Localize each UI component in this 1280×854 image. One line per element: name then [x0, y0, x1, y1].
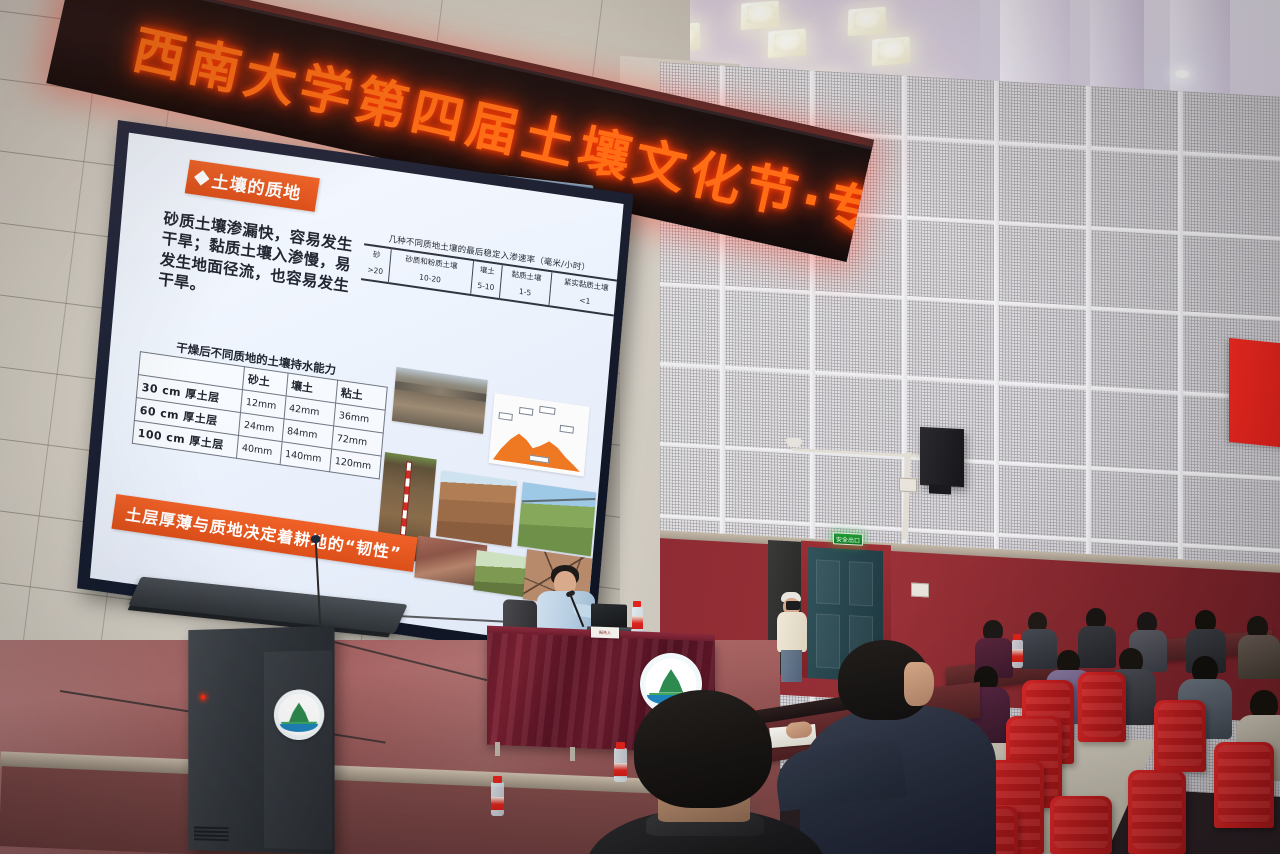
- exit-sign-label: 安全出口: [836, 534, 860, 544]
- wall-junction-box: [899, 478, 917, 493]
- podium-body: [188, 626, 334, 854]
- auditorium-seat[interactable]: [1214, 742, 1274, 828]
- table-leg: [495, 742, 500, 756]
- table-cell: 40mm: [237, 435, 282, 464]
- podium-front-face: [264, 650, 333, 850]
- eroded-landscape-photo: [392, 367, 488, 434]
- wall-loudspeaker: [920, 427, 964, 487]
- water-bottle[interactable]: [1012, 640, 1023, 668]
- audience-head: [634, 690, 772, 808]
- water-capacity-table-block: 干燥后不同质地的土壤持水能力 砂土 壤土 粘土 30 cm 厚土层: [132, 334, 389, 479]
- slide-footer-banner: 土层厚薄与质地决定着耕地的“韧性”: [111, 494, 417, 572]
- ceiling-light: [872, 37, 911, 67]
- water-bottle[interactable]: [491, 782, 504, 816]
- photographer-legs: [781, 650, 802, 682]
- security-camera-icon: [786, 438, 802, 448]
- auditorium-seat[interactable]: [1078, 672, 1126, 742]
- university-emblem: [274, 689, 324, 740]
- auditorium-seat[interactable]: [1128, 770, 1186, 854]
- lectern-podium[interactable]: [186, 608, 336, 854]
- slide-paragraph: 砂质土壤渗漏快，容易发生干旱；黏质土壤入渗慢，易发生地面径流，也容易发生干旱。: [157, 208, 358, 318]
- infiltration-table-block: 几种不同质地土壤的最后稳定入渗速率（毫米/小时） 砂 砂质和粉质土壤 壤土 黏质…: [361, 229, 623, 316]
- auditorium-seat[interactable]: [1050, 796, 1112, 854]
- red-wall-banner: [1229, 338, 1280, 448]
- presenter-name-card-text: 报告人: [591, 630, 619, 637]
- soil-profile-diagram: [489, 393, 590, 476]
- irrigated-crop-field-photo: [517, 482, 596, 556]
- slide-title: 土壤的质地: [210, 167, 303, 205]
- audience-face: [904, 662, 934, 706]
- wall-junction-box: [911, 583, 929, 598]
- laptop-screen: [591, 603, 627, 628]
- diamond-icon: [194, 170, 209, 185]
- presenter-name-card: 报告人: [591, 627, 619, 639]
- ceiling-light: [848, 7, 887, 37]
- foreground-audience-member: [800, 640, 990, 854]
- ceiling-light: [741, 1, 780, 31]
- auditorium-scene: 安全出口 西南大学第四届土壤文化节·专家科普讲座 土壤的质地 砂质土壤渗漏快，容…: [0, 0, 1280, 854]
- table-cell: 5-10: [470, 277, 501, 298]
- foreground-audience-member: [612, 690, 792, 854]
- recessed-downlight: [1175, 70, 1189, 78]
- power-led-icon: [201, 695, 206, 700]
- slide-title-bar: 土壤的质地: [185, 160, 320, 212]
- auditorium-seat[interactable]: [1154, 700, 1206, 772]
- podium-vent: [194, 826, 229, 841]
- exit-sign: 安全出口: [833, 532, 863, 546]
- camera-icon: [786, 601, 800, 610]
- table-leg: [570, 747, 575, 761]
- tilled-field-photo: [436, 470, 517, 547]
- table-cell: >20: [361, 261, 390, 282]
- ceiling-light: [768, 29, 807, 59]
- slide-body: 砂质土壤渗漏快，容易发生干旱；黏质土壤入渗慢，易发生地面径流，也容易发生干旱。 …: [141, 201, 604, 268]
